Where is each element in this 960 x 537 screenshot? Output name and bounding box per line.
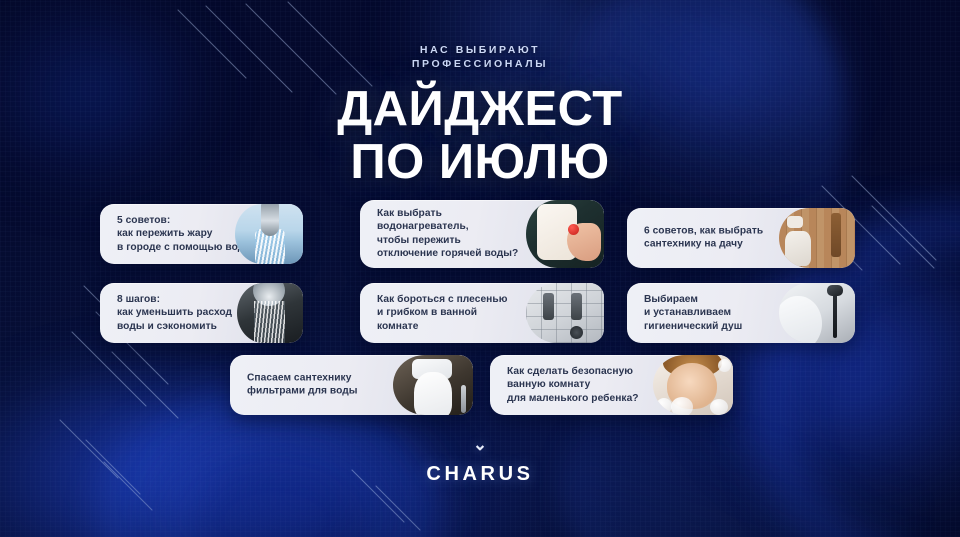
article-card[interactable]: 5 советов: как пережить жару в городе с … — [100, 204, 303, 264]
article-card-title: 8 шагов: как уменьшить расход воды и сэк… — [117, 293, 232, 333]
background-grid-texture — [0, 0, 960, 537]
toilet-filter-image — [393, 355, 473, 415]
toilet-bowl-shape — [414, 372, 452, 415]
article-card-title: Как сделать безопасную ванную комнату дл… — [507, 365, 639, 405]
article-card-thumbnail — [526, 283, 604, 343]
title-line-1: ДАЙДЖЕСТ — [337, 82, 623, 136]
background-vignette — [0, 0, 960, 537]
tile-grid-texture — [526, 283, 604, 343]
wood-board-shape — [831, 213, 841, 257]
article-card-thumbnail — [393, 355, 473, 415]
valve-shape-2 — [571, 293, 582, 320]
article-card[interactable]: 8 шагов: как уменьшить расход воды и сэк… — [100, 283, 303, 343]
title-line-2: ПО ИЮЛЮ — [0, 139, 960, 186]
brand-logo: CHARUS — [0, 463, 960, 486]
hygienic-shower-image — [779, 283, 855, 343]
country-toilet-image — [779, 208, 855, 268]
toilet-bowl-shape — [785, 231, 811, 266]
article-card[interactable]: Как выбрать водонагреватель, чтобы переж… — [360, 200, 604, 268]
article-card-thumbnail — [526, 200, 604, 268]
shower-bucket-image — [235, 204, 303, 264]
foam-bubble — [710, 399, 728, 415]
toilet-bowl-shape — [779, 296, 822, 343]
toilet-brush-shape — [461, 385, 466, 413]
article-card-thumbnail — [653, 355, 733, 415]
article-card-title: Как выбрать водонагреватель, чтобы переж… — [377, 207, 518, 261]
article-card-thumbnail — [237, 283, 303, 343]
bathroom-tiles-image — [526, 283, 604, 343]
foam-bubble — [656, 398, 672, 414]
article-card[interactable]: Как сделать безопасную ванную комнату дл… — [490, 355, 733, 415]
kicker-line-1: НАС ВЫБИРАЮТ — [0, 44, 960, 58]
background-diagonal-streaks — [0, 0, 960, 537]
kicker-line-2: ПРОФЕССИОНАЛЫ — [0, 58, 960, 72]
water-heater-image — [526, 200, 604, 268]
valve-shape-1 — [543, 293, 554, 320]
article-card[interactable]: 6 советов, как выбрать сантехнику на дач… — [627, 208, 855, 268]
article-card-title: 6 советов, как выбрать сантехнику на дач… — [644, 225, 763, 252]
article-card-thumbnail — [779, 208, 855, 268]
heater-button-icon — [568, 224, 579, 235]
article-card-title: 5 советов: как пережить жару в городе с … — [117, 214, 253, 254]
article-card-title: Как бороться с плесенью и грибком в ванн… — [377, 293, 507, 333]
article-card[interactable]: Спасаем сантехнику фильтрами для воды — [230, 355, 473, 415]
shower-handle-shape — [827, 285, 843, 296]
foam-bubble — [671, 397, 693, 415]
article-card[interactable]: Как бороться с плесенью и грибком в ванн… — [360, 283, 604, 343]
article-card[interactable]: Выбираем и устанавливаем гигиенический д… — [627, 283, 855, 343]
child-bath-image — [653, 355, 733, 415]
chevron-down-icon: ⌄ — [0, 436, 960, 453]
article-card-title: Спасаем сантехнику фильтрами для воды — [247, 372, 358, 399]
poster-canvas: НАС ВЫБИРАЮТ ПРОФЕССИОНАЛЫ ДАЙДЖЕСТ ПО И… — [0, 0, 960, 537]
article-card-title: Выбираем и устанавливаем гигиенический д… — [644, 293, 742, 333]
page-title: ДАЙДЖЕСТ ПО ИЮЛЮ — [0, 86, 960, 186]
sink-shape — [787, 216, 804, 228]
article-card-thumbnail — [779, 283, 855, 343]
kicker-text: НАС ВЫБИРАЮТ ПРОФЕССИОНАЛЫ — [0, 44, 960, 71]
article-card-thumbnail — [235, 204, 303, 264]
shower-head-image — [237, 283, 303, 343]
foam-bubble — [718, 359, 731, 372]
